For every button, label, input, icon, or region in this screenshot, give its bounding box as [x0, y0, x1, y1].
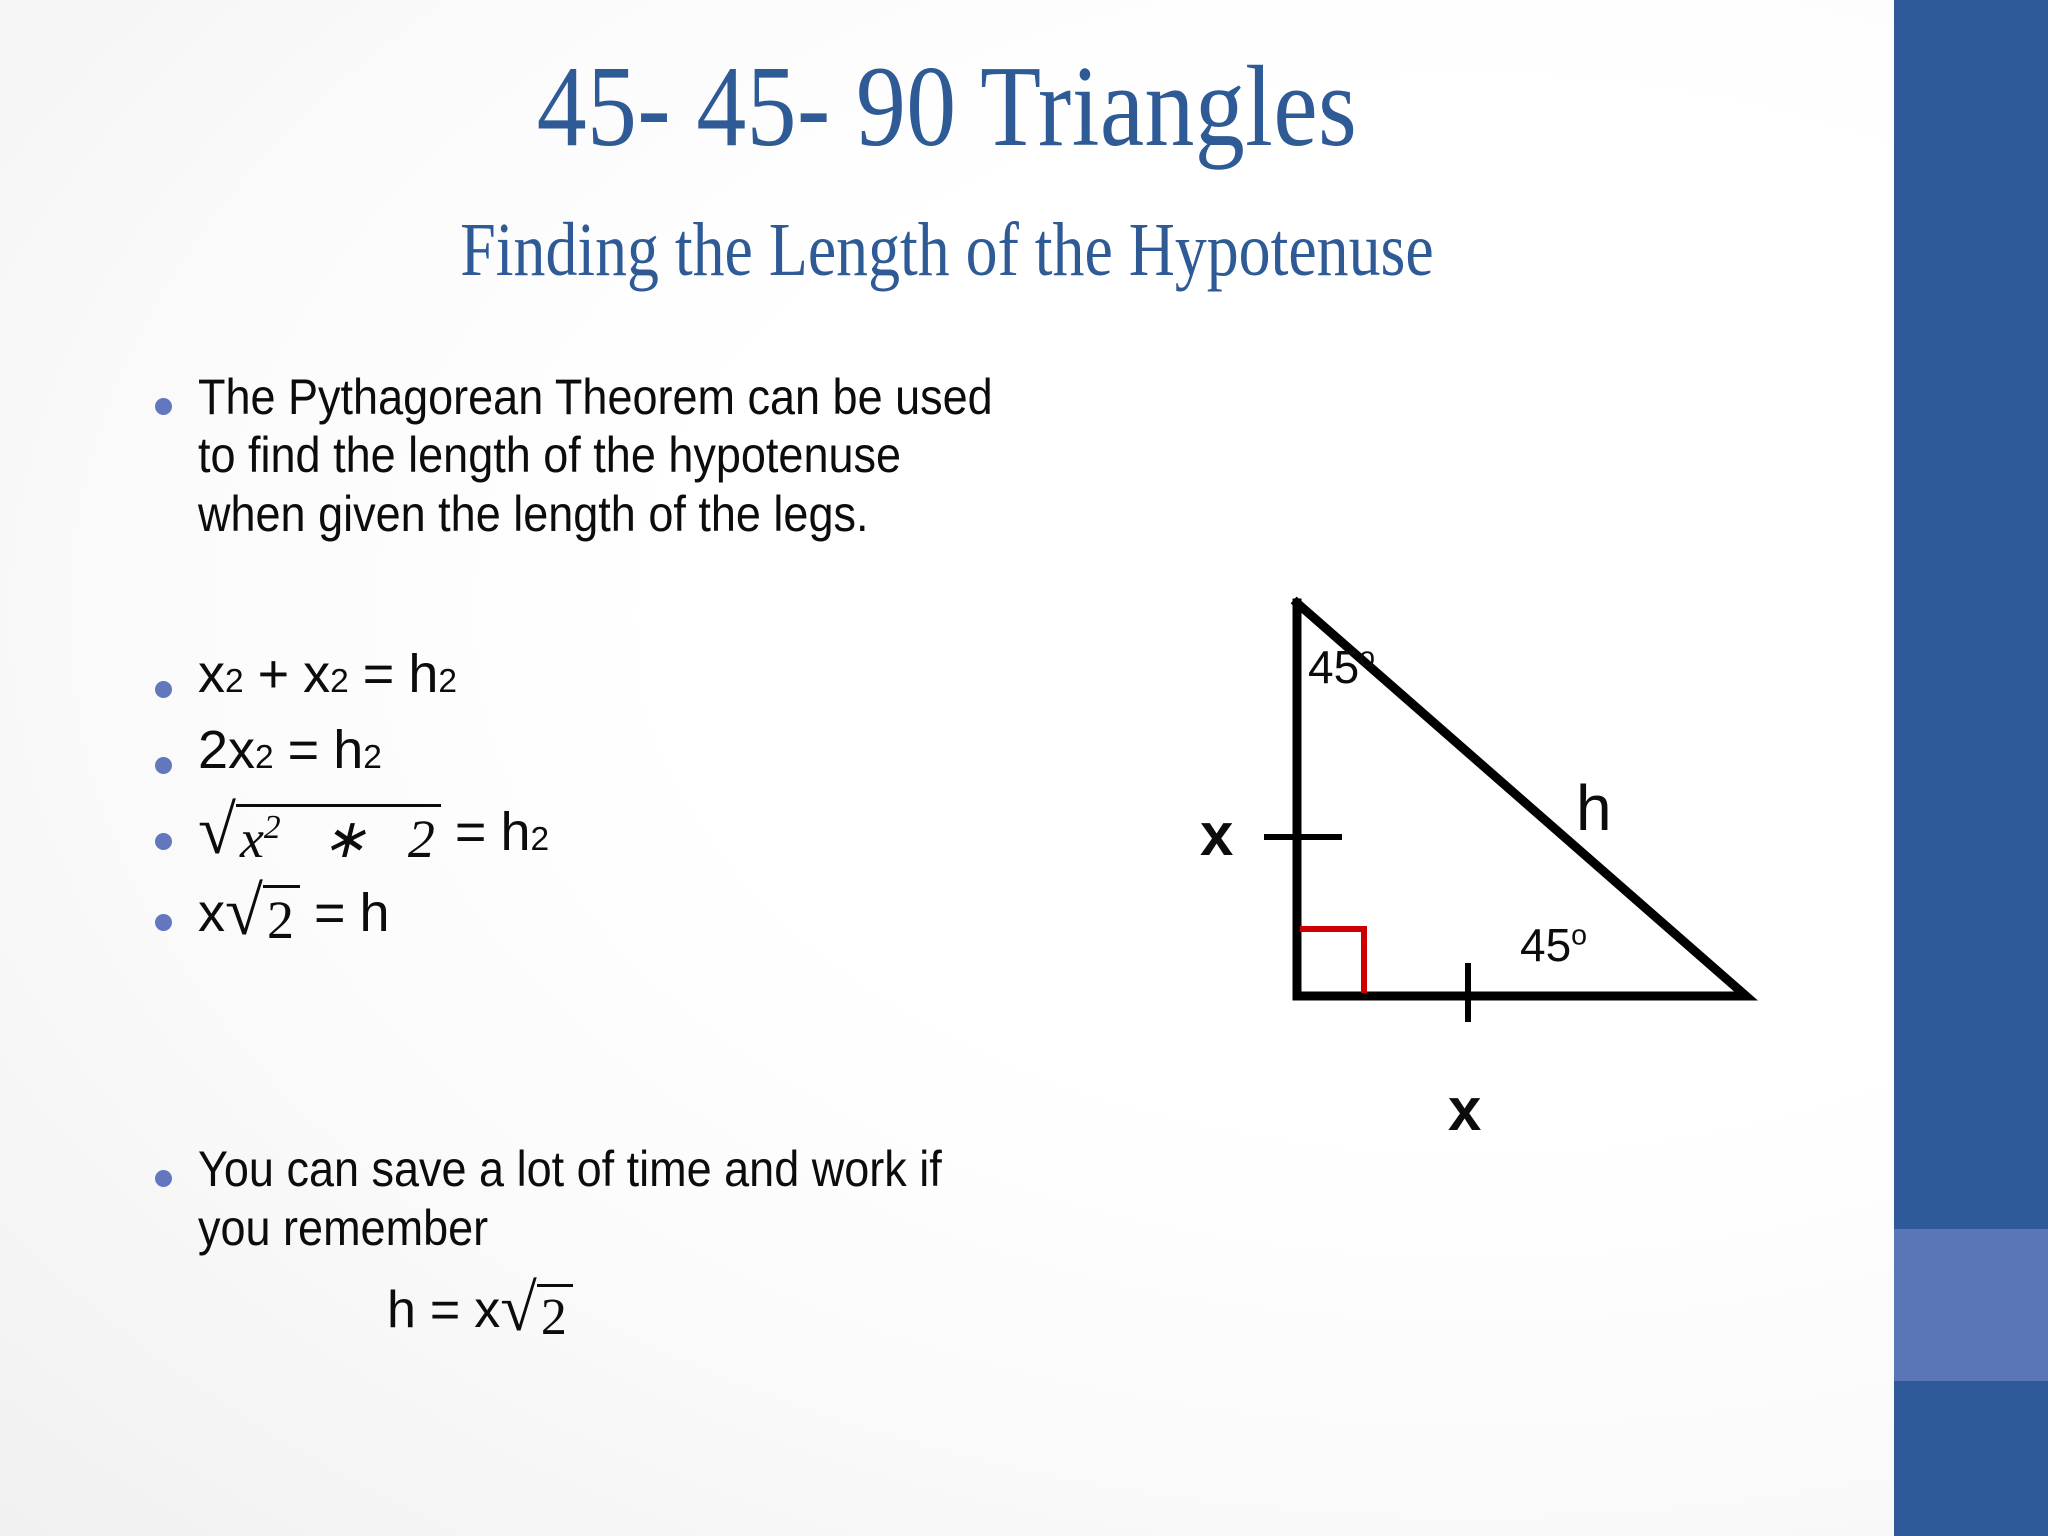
bullet-dot-icon	[155, 1170, 172, 1187]
eq4-equals: =	[314, 886, 346, 940]
equation-x-root-two: x √ 2 = h	[198, 880, 390, 951]
bullet-dot-icon	[155, 833, 172, 850]
bullet-dot-icon	[155, 398, 172, 415]
angle-label-bottom-right: 45o	[1520, 922, 1587, 968]
degree-symbol-icon: o	[1359, 642, 1375, 674]
eq1-equals: =	[363, 647, 395, 701]
eq2-equals: =	[288, 723, 320, 777]
bullet-dot-icon	[155, 681, 172, 698]
radicand: 2	[263, 885, 300, 950]
eq1-rhs: h	[408, 647, 438, 701]
radical-expression: √ 2	[225, 880, 300, 951]
angle-top-value: 45	[1308, 641, 1359, 693]
radicand-factor: 2	[408, 809, 435, 869]
list-item: √ x2 ∗ 2 = h2	[155, 799, 1095, 870]
slide-canvas: 45- 45- 90 Triangles Finding the Length …	[0, 0, 2048, 1536]
radical-expression: √ x2 ∗ 2	[198, 799, 441, 870]
radical-sign-icon: √	[500, 1282, 537, 1350]
list-item: You can save a lot of time and work if y…	[155, 1140, 1095, 1257]
closing-bullet-text: You can save a lot of time and work if y…	[198, 1140, 1005, 1257]
radicand-exponent: 2	[264, 809, 281, 846]
radical-sign-icon: √	[225, 883, 263, 954]
vertical-leg-label: x	[1200, 805, 1233, 865]
list-item: x2 + x2 = h2	[155, 647, 1095, 713]
eq2-lhs: 2x	[198, 723, 255, 777]
eq3-equals: =	[455, 805, 487, 859]
list-item: 2x2 = h2	[155, 723, 1095, 789]
radical-expression: √ 2	[500, 1279, 573, 1347]
triangle-svg	[1090, 540, 1870, 970]
eq4-rhs: h	[359, 886, 389, 940]
triangle-diagram: 45o 45o h x x	[1090, 540, 1870, 970]
eq1-operator: +	[258, 647, 290, 701]
eq1-lhs-a: x	[198, 647, 225, 701]
equation-sum-of-squares: x2 + x2 = h2	[198, 647, 457, 713]
bullet-dot-icon	[155, 914, 172, 931]
content-body: The Pythagorean Theorem can be used to f…	[155, 368, 1095, 1347]
radical-sign-icon: √	[198, 802, 236, 873]
page-title: 45- 45- 90 Triangles	[133, 48, 1762, 166]
eq3-rhs: h	[500, 805, 530, 859]
radicand-operator: ∗	[322, 809, 367, 869]
horizontal-leg-label: x	[1448, 1080, 1481, 1140]
equation-two-x-squared: 2x2 = h2	[198, 723, 382, 789]
angle-label-top: 45o	[1308, 644, 1375, 690]
eq4-coefficient: x	[198, 886, 225, 940]
radicand: x2 ∗ 2	[236, 804, 441, 869]
right-angle-marker-icon	[1300, 929, 1364, 993]
angle-bottom-right-value: 45	[1520, 919, 1571, 971]
hypotenuse-label: h	[1576, 776, 1612, 840]
equation-list: x2 + x2 = h2 2x2 = h2	[155, 647, 1095, 951]
sidebar-band-accent	[1894, 1229, 2048, 1381]
radicand: 2	[537, 1284, 573, 1347]
radicand-base: x	[240, 809, 264, 869]
list-item: x √ 2 = h	[155, 880, 1095, 951]
degree-symbol-icon: o	[1571, 920, 1587, 952]
sidebar-decoration	[1894, 0, 2048, 1536]
closing-coefficient: x	[474, 1280, 500, 1340]
list-item: The Pythagorean Theorem can be used to f…	[155, 368, 1095, 543]
eq2-rhs: h	[333, 723, 363, 777]
closing-lhs: h	[387, 1280, 416, 1340]
closing-formula: h = x √ 2	[387, 1279, 1095, 1347]
closing-block: You can save a lot of time and work if y…	[155, 1140, 1095, 1347]
bullet-dot-icon	[155, 757, 172, 774]
equation-radical-x-squared-times-two: √ x2 ∗ 2 = h2	[198, 799, 549, 870]
intro-bullet-text: The Pythagorean Theorem can be used to f…	[198, 368, 1005, 543]
eq1-lhs-b: x	[303, 647, 330, 701]
page-subtitle: Finding the Length of the Hypotenuse	[152, 212, 1743, 290]
closing-equals: =	[430, 1280, 460, 1340]
